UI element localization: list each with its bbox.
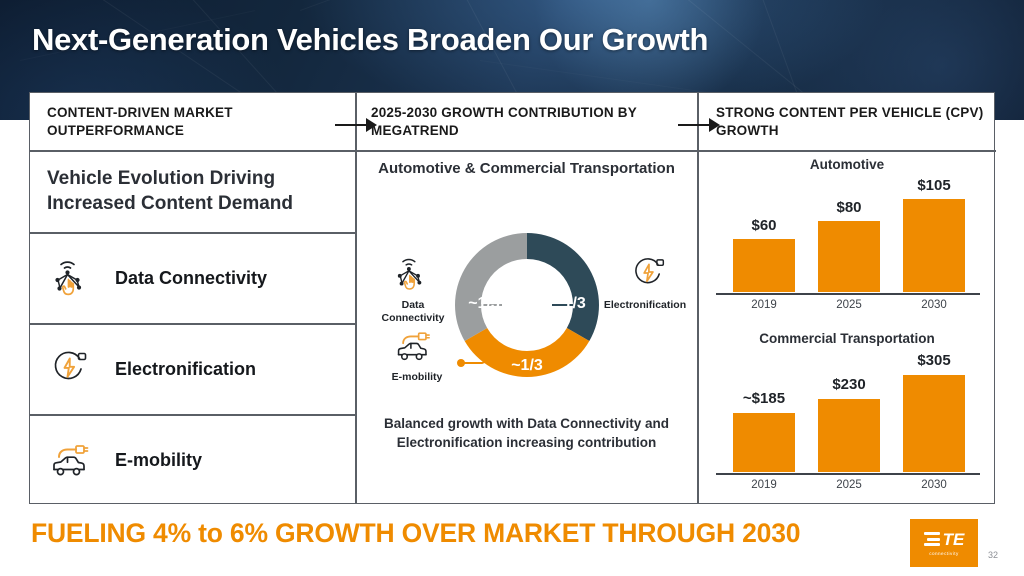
electronification-icon (44, 343, 100, 395)
donut-chart-title: Automotive & Commercial Transportation (356, 159, 697, 179)
bar-category: 2025 (804, 479, 894, 491)
electronification-icon (628, 253, 674, 295)
donut-chart-caption: Balanced growth with Data Connectivity a… (356, 414, 697, 452)
donut-label-e-mobility: E-mobility (374, 371, 460, 384)
left-item-e-mobility[interactable]: E-mobility (30, 415, 355, 505)
e-mobility-icon (390, 325, 436, 367)
te-logo-bars-icon (924, 532, 940, 546)
bar-value: $80 (804, 199, 894, 216)
bar-value: ~$185 (719, 390, 809, 407)
left-item-label: Data Connectivity (115, 268, 267, 289)
column-header-1-label: CONTENT-DRIVEN MARKET OUTPERFORMANCE (47, 104, 355, 139)
column-header-2: 2025-2030 GROWTH CONTRIBUTION BY MEGATRE… (356, 93, 697, 150)
middle-column: Automotive & Commercial Transportation (356, 151, 697, 505)
bar-value: $105 (889, 177, 979, 194)
te-logo-tagline: connectivity (929, 551, 958, 556)
bar-value: $60 (719, 217, 809, 234)
bar (903, 375, 965, 472)
bar (903, 199, 965, 292)
bar-category: 2030 (889, 299, 979, 311)
data-connectivity-icon (390, 253, 436, 295)
arrow-right-icon (335, 118, 377, 132)
arrow-right-icon (678, 118, 720, 132)
donut-label-electronification: Electronification (593, 299, 697, 312)
column-header-2-label: 2025-2030 GROWTH CONTRIBUTION BY MEGATRE… (371, 104, 697, 139)
column-header-3: STRONG CONTENT PER VEHICLE (CPV) GROWTH (698, 93, 996, 150)
bar-category: 2025 (804, 299, 894, 311)
content-grid: CONTENT-DRIVEN MARKET OUTPERFORMANCE 202… (29, 92, 995, 504)
bar (733, 413, 795, 472)
donut-slice-value-data-connectivity: ~1/3 (456, 295, 512, 313)
bar-chart-automotive-title: Automotive (698, 157, 996, 172)
left-intro-text: Vehicle Evolution Driving Increased Cont… (47, 167, 338, 215)
bar-chart-automotive: Automotive $60 $80 $105 2019 2025 2030 (698, 157, 996, 327)
bar-category: 2019 (719, 479, 809, 491)
bar-value: $230 (804, 376, 894, 393)
e-mobility-icon (44, 434, 100, 486)
bar (818, 399, 880, 472)
column-header-3-label: STRONG CONTENT PER VEHICLE (CPV) GROWTH (716, 104, 996, 139)
page-title: Next-Generation Vehicles Broaden Our Gro… (32, 22, 708, 58)
x-axis (716, 473, 980, 475)
donut-slice-value-electronification: ~1/3 (542, 295, 598, 313)
footer-banner-text: FUELING 4% to 6% GROWTH OVER MARKET THRO… (31, 518, 800, 549)
donut-slice-value-e-mobility: ~1/3 (499, 357, 555, 375)
left-intro-row: Vehicle Evolution Driving Increased Cont… (30, 151, 355, 232)
te-logo-mark: TE (924, 531, 965, 548)
bar-chart-commercial-transportation: Commercial Transportation ~$185 $230 $30… (698, 331, 996, 505)
left-item-label: E-mobility (115, 450, 202, 471)
left-item-label: Electronification (115, 359, 256, 380)
x-axis (716, 293, 980, 295)
left-item-electronification[interactable]: Electronification (30, 324, 355, 414)
donut-chart: ~1/3 ~1/3 ~1/3 (356, 203, 697, 393)
bar-chart-commercial-transportation-title: Commercial Transportation (698, 331, 996, 346)
column-header-1: CONTENT-DRIVEN MARKET OUTPERFORMANCE (30, 93, 355, 150)
page-number: 32 (988, 550, 998, 560)
te-logo-letters: TE (943, 531, 965, 548)
te-connectivity-logo: TE connectivity (910, 519, 978, 567)
bar-category: 2019 (719, 299, 809, 311)
footer-banner: FUELING 4% to 6% GROWTH OVER MARKET THRO… (0, 504, 1024, 576)
slide: Next-Generation Vehicles Broaden Our Gro… (0, 0, 1024, 576)
data-connectivity-icon (44, 252, 100, 304)
bar-value: $305 (889, 352, 979, 369)
bar-category: 2030 (889, 479, 979, 491)
bar (733, 239, 795, 292)
bar (818, 221, 880, 292)
right-column: Automotive $60 $80 $105 2019 2025 2030 C… (698, 151, 996, 505)
left-item-data-connectivity[interactable]: Data Connectivity (30, 233, 355, 323)
donut-label-data-connectivity: Data Connectivity (370, 299, 456, 324)
